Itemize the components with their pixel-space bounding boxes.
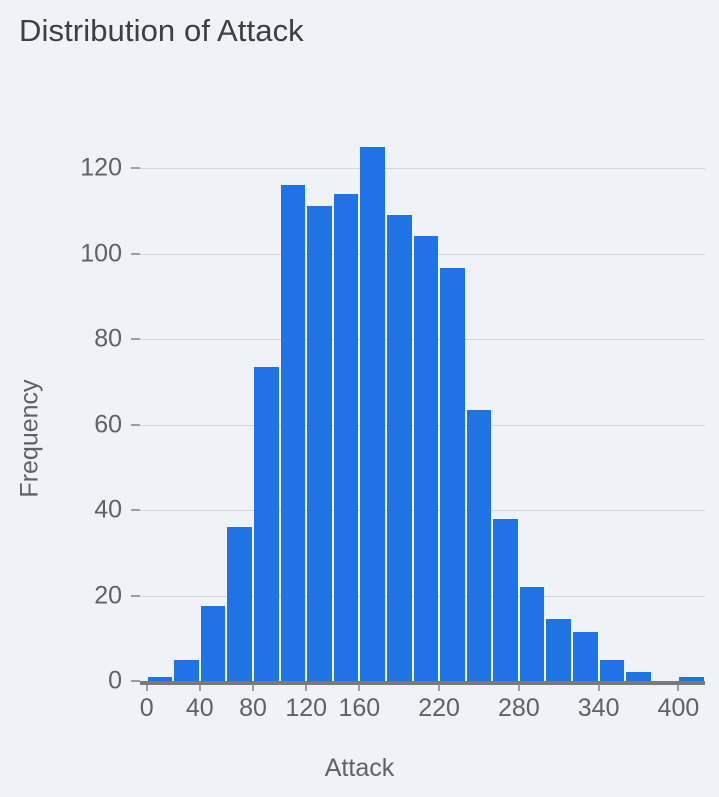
histogram-bar	[360, 147, 385, 681]
y-axis-tick-mark	[131, 680, 140, 682]
x-axis-tick-mark	[252, 685, 254, 691]
x-axis-tick-mark	[598, 685, 600, 691]
histogram-bar	[387, 215, 412, 681]
x-axis-tick-label: 80	[239, 694, 267, 723]
histogram-bar	[626, 672, 651, 681]
x-axis-tick-label: 160	[338, 694, 380, 723]
histogram-bars	[140, 140, 705, 681]
x-axis-tick-mark	[199, 685, 201, 691]
histogram-bar	[254, 367, 279, 681]
histogram-bar	[573, 632, 598, 681]
x-axis-title: Attack	[0, 754, 719, 783]
x-axis-tick-mark	[438, 685, 440, 691]
y-axis-tick-label: 20	[94, 581, 122, 610]
histogram-bar	[600, 660, 625, 681]
x-axis-tick-mark	[146, 685, 148, 691]
y-axis-tick-label: 60	[94, 410, 122, 439]
histogram-bar	[493, 519, 518, 681]
histogram-bar	[281, 185, 306, 681]
histogram-bar	[414, 236, 439, 681]
x-axis-tick-label: 340	[578, 694, 620, 723]
x-axis-tick-mark	[677, 685, 679, 691]
x-axis-tick-mark	[358, 685, 360, 691]
y-axis-tick-mark	[131, 338, 140, 340]
x-axis-tick-label: 280	[498, 694, 540, 723]
histogram-bar	[546, 619, 571, 681]
histogram-bar	[440, 268, 465, 681]
x-axis-tick-label: 220	[418, 694, 460, 723]
y-axis-tick-label: 120	[80, 154, 122, 183]
y-axis-tick-label: 40	[94, 496, 122, 525]
x-axis-tick-mark	[305, 685, 307, 691]
x-axis-tick-label: 400	[658, 694, 700, 723]
histogram-bar	[227, 527, 252, 681]
y-axis-tick-mark	[131, 167, 140, 169]
y-axis-title: Frequency	[16, 339, 45, 539]
plot-area	[140, 140, 705, 681]
x-axis-tick-label: 120	[285, 694, 327, 723]
histogram-bar	[520, 587, 545, 681]
x-axis-line	[140, 681, 705, 685]
y-axis-tick-mark	[131, 253, 140, 255]
y-axis-tick-label: 0	[108, 667, 122, 696]
histogram-bar	[307, 206, 332, 681]
y-axis-tick-label: 80	[94, 325, 122, 354]
y-axis-tick-mark	[131, 595, 140, 597]
y-axis-tick-mark	[131, 424, 140, 426]
y-axis-tick-mark	[131, 509, 140, 511]
chart-root: Distribution of Attack 020406080100120 F…	[0, 0, 719, 797]
y-axis-tick-label: 100	[80, 239, 122, 268]
x-axis-tick-label: 0	[140, 694, 154, 723]
histogram-bar	[201, 606, 226, 681]
histogram-bar	[174, 660, 199, 681]
x-axis-tick-mark	[518, 685, 520, 691]
histogram-bar	[334, 194, 359, 681]
histogram-bar	[467, 410, 492, 681]
x-axis-tick-label: 40	[186, 694, 214, 723]
